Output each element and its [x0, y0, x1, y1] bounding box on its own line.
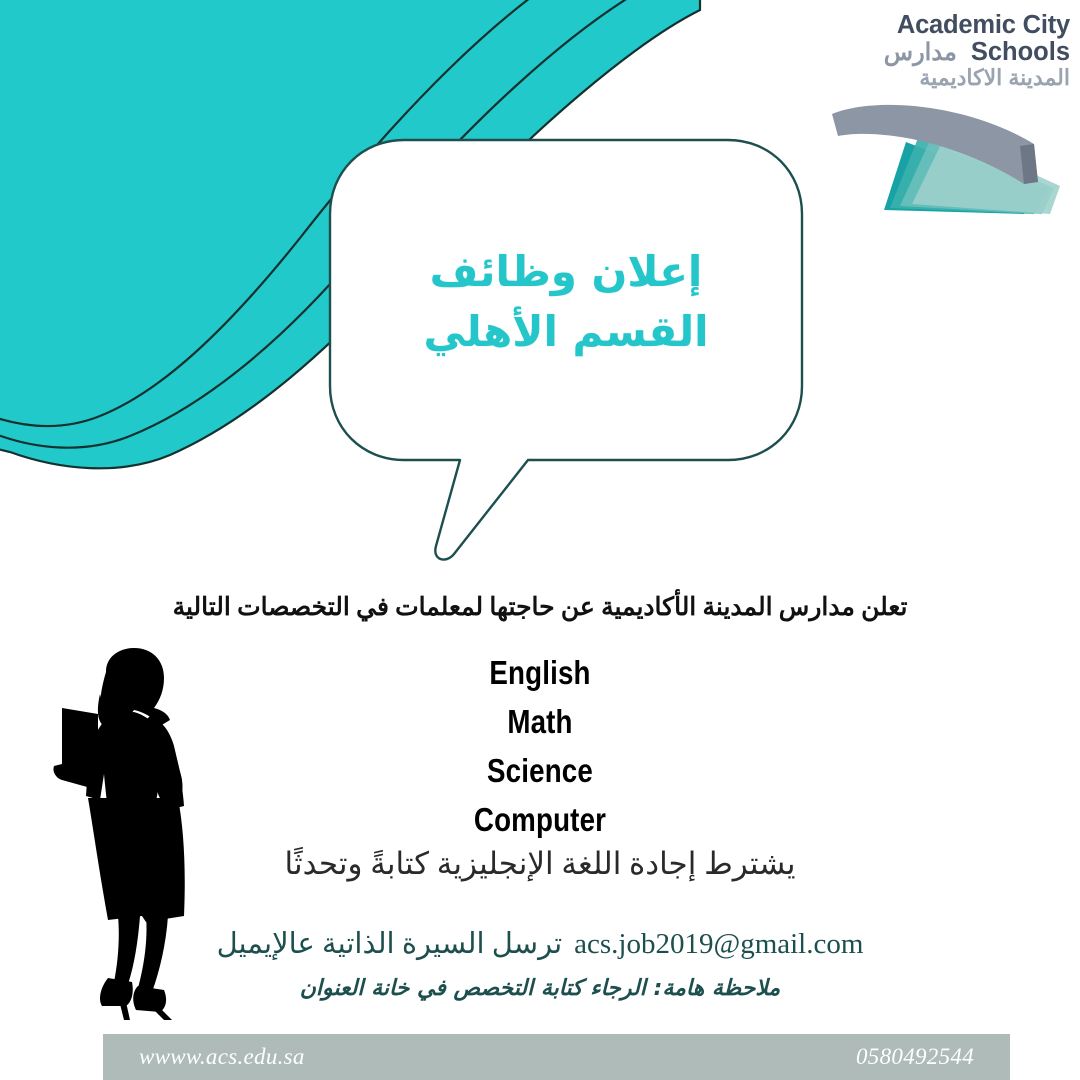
- email-address[interactable]: acs.job2019@gmail.com: [574, 928, 863, 960]
- intro-paragraph: تعلن مدارس المدينة الأكاديمية عن حاجتها …: [0, 592, 1080, 622]
- bubble-headline-line2: القسم الأهلي: [326, 302, 806, 362]
- bubble-headline-line1: إعلان وظائف: [326, 242, 806, 302]
- language-requirement: يشترط إجادة اللغة الإنجليزية كتابةً وتحد…: [0, 846, 1080, 882]
- logo-english-schools: Schools: [971, 39, 1070, 66]
- speech-bubble: إعلان وظائف القسم الأهلي: [326, 136, 806, 566]
- subject-item-computer: Computer: [86, 795, 993, 844]
- logo-line-schools: مدارس Schools: [828, 39, 1070, 66]
- logo-arabic-subtitle: المدينة الاكاديمية: [828, 66, 1070, 90]
- logo-wordmark: Academic City مدارس Schools المدينة الاك…: [828, 12, 1070, 90]
- website-url[interactable]: wwww.acs.edu.sa: [139, 1044, 305, 1070]
- bubble-headline: إعلان وظائف القسم الأهلي: [326, 242, 806, 361]
- subject-item-english: English: [86, 648, 993, 697]
- phone-number[interactable]: 0580492544: [856, 1044, 974, 1070]
- subject-item-math: Math: [86, 697, 993, 746]
- subject-item-science: Science: [86, 746, 993, 795]
- contact-instruction: acs.job2019@gmail.comترسل السيرة الذاتية…: [0, 926, 1080, 961]
- contact-instruction-label: ترسل السيرة الذاتية عالإيميل: [217, 928, 563, 960]
- logo-line-academic-city: Academic City: [828, 12, 1070, 39]
- layered-swoosh-icon: [828, 98, 1070, 214]
- important-note: ملاحظة هامة: الرجاء كتابة التخصص في خانة…: [0, 976, 1080, 1001]
- subject-list: English Math Science Computer: [0, 648, 1080, 844]
- logo-arabic-madaris: مدارس: [884, 40, 957, 65]
- job-advertisement-poster: Academic City مدارس Schools المدينة الاك…: [0, 0, 1080, 1080]
- school-logo: Academic City مدارس Schools المدينة الاك…: [828, 12, 1070, 212]
- footer-bar: wwww.acs.edu.sa 0580492544: [103, 1034, 1010, 1080]
